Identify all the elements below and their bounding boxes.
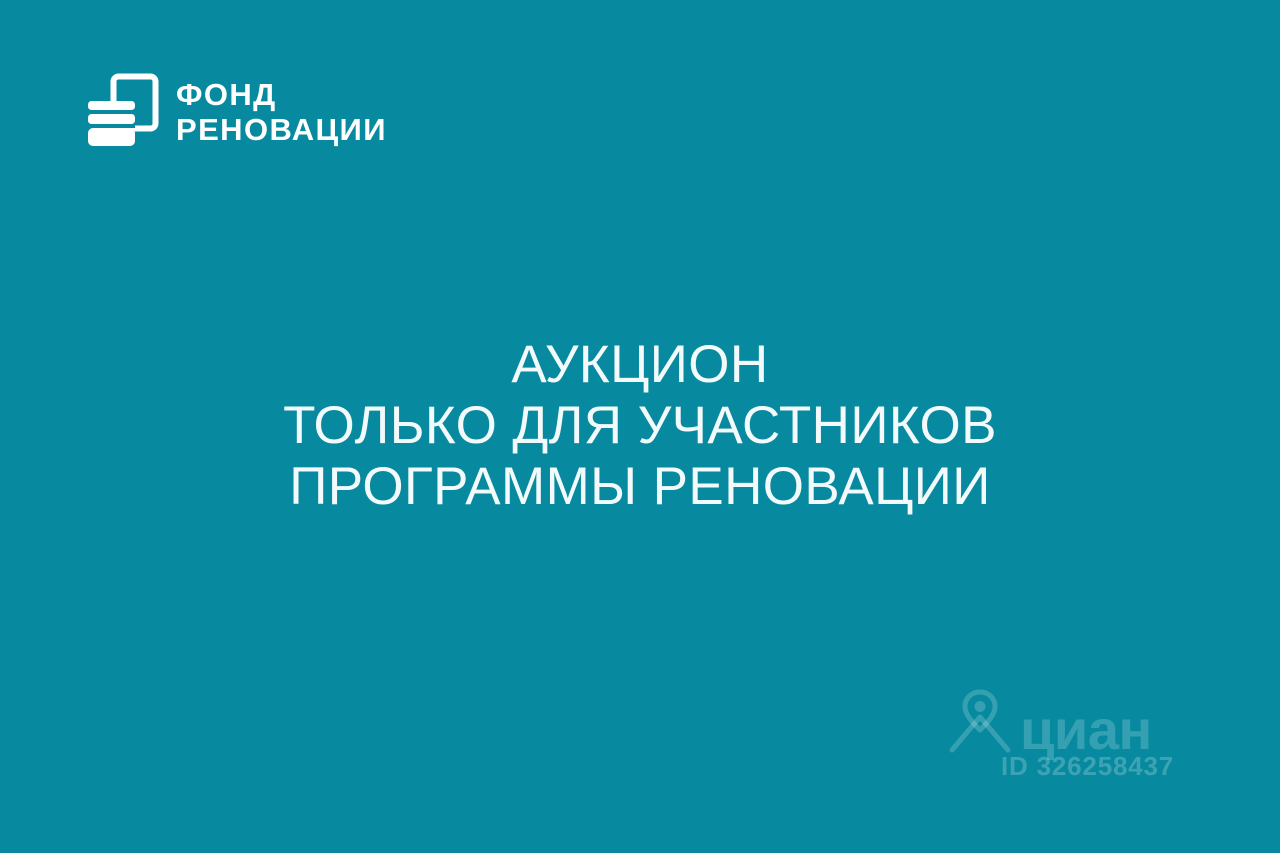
cian-pin-logo-icon bbox=[944, 686, 1016, 756]
brand-wordmark: ФОНД РЕНОВАЦИИ bbox=[176, 78, 387, 147]
headline-line-3: ПРОГРАММЫ РЕНОВАЦИИ bbox=[40, 456, 1240, 517]
brand-line-1: ФОНД bbox=[176, 78, 387, 113]
headline: АУКЦИОН ТОЛЬКО ДЛЯ УЧАСТНИКОВ ПРОГРАММЫ … bbox=[0, 334, 1280, 517]
stacked-cards-logo-icon bbox=[86, 72, 160, 154]
cian-logo-row: циан bbox=[944, 686, 1176, 756]
headline-line-1: АУКЦИОН bbox=[40, 334, 1240, 395]
headline-line-2: ТОЛЬКО ДЛЯ УЧАСТНИКОВ bbox=[40, 395, 1240, 456]
cian-watermark: циан ID 326258437 bbox=[944, 686, 1176, 790]
auction-banner: ФОНД РЕНОВАЦИИ АУКЦИОН ТОЛЬКО ДЛЯ УЧАСТН… bbox=[0, 0, 1280, 853]
cian-wordmark: циан bbox=[1020, 702, 1152, 758]
brand-lockup: ФОНД РЕНОВАЦИИ bbox=[86, 72, 387, 154]
brand-line-2: РЕНОВАЦИИ bbox=[176, 113, 387, 148]
cian-listing-id: ID 326258437 bbox=[944, 752, 1176, 780]
